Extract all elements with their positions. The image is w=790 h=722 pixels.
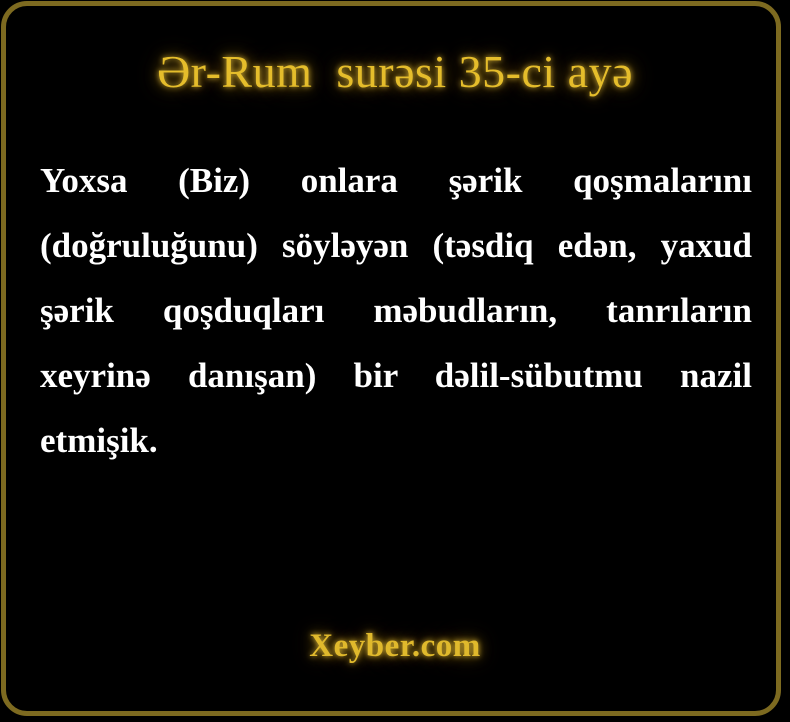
page-title: Ər-Rum surəsi 35-ci ayə: [0, 44, 790, 100]
verse-body-text: Yoxsa (Biz) onlara şərik qoşmalarını (do…: [40, 148, 752, 473]
site-watermark: Xeyber.com: [0, 624, 790, 668]
card-content: Ər-Rum surəsi 35-ci ayə Yoxsa (Biz) onla…: [0, 0, 790, 722]
verse-card: Ər-Rum surəsi 35-ci ayə Yoxsa (Biz) onla…: [0, 0, 790, 722]
